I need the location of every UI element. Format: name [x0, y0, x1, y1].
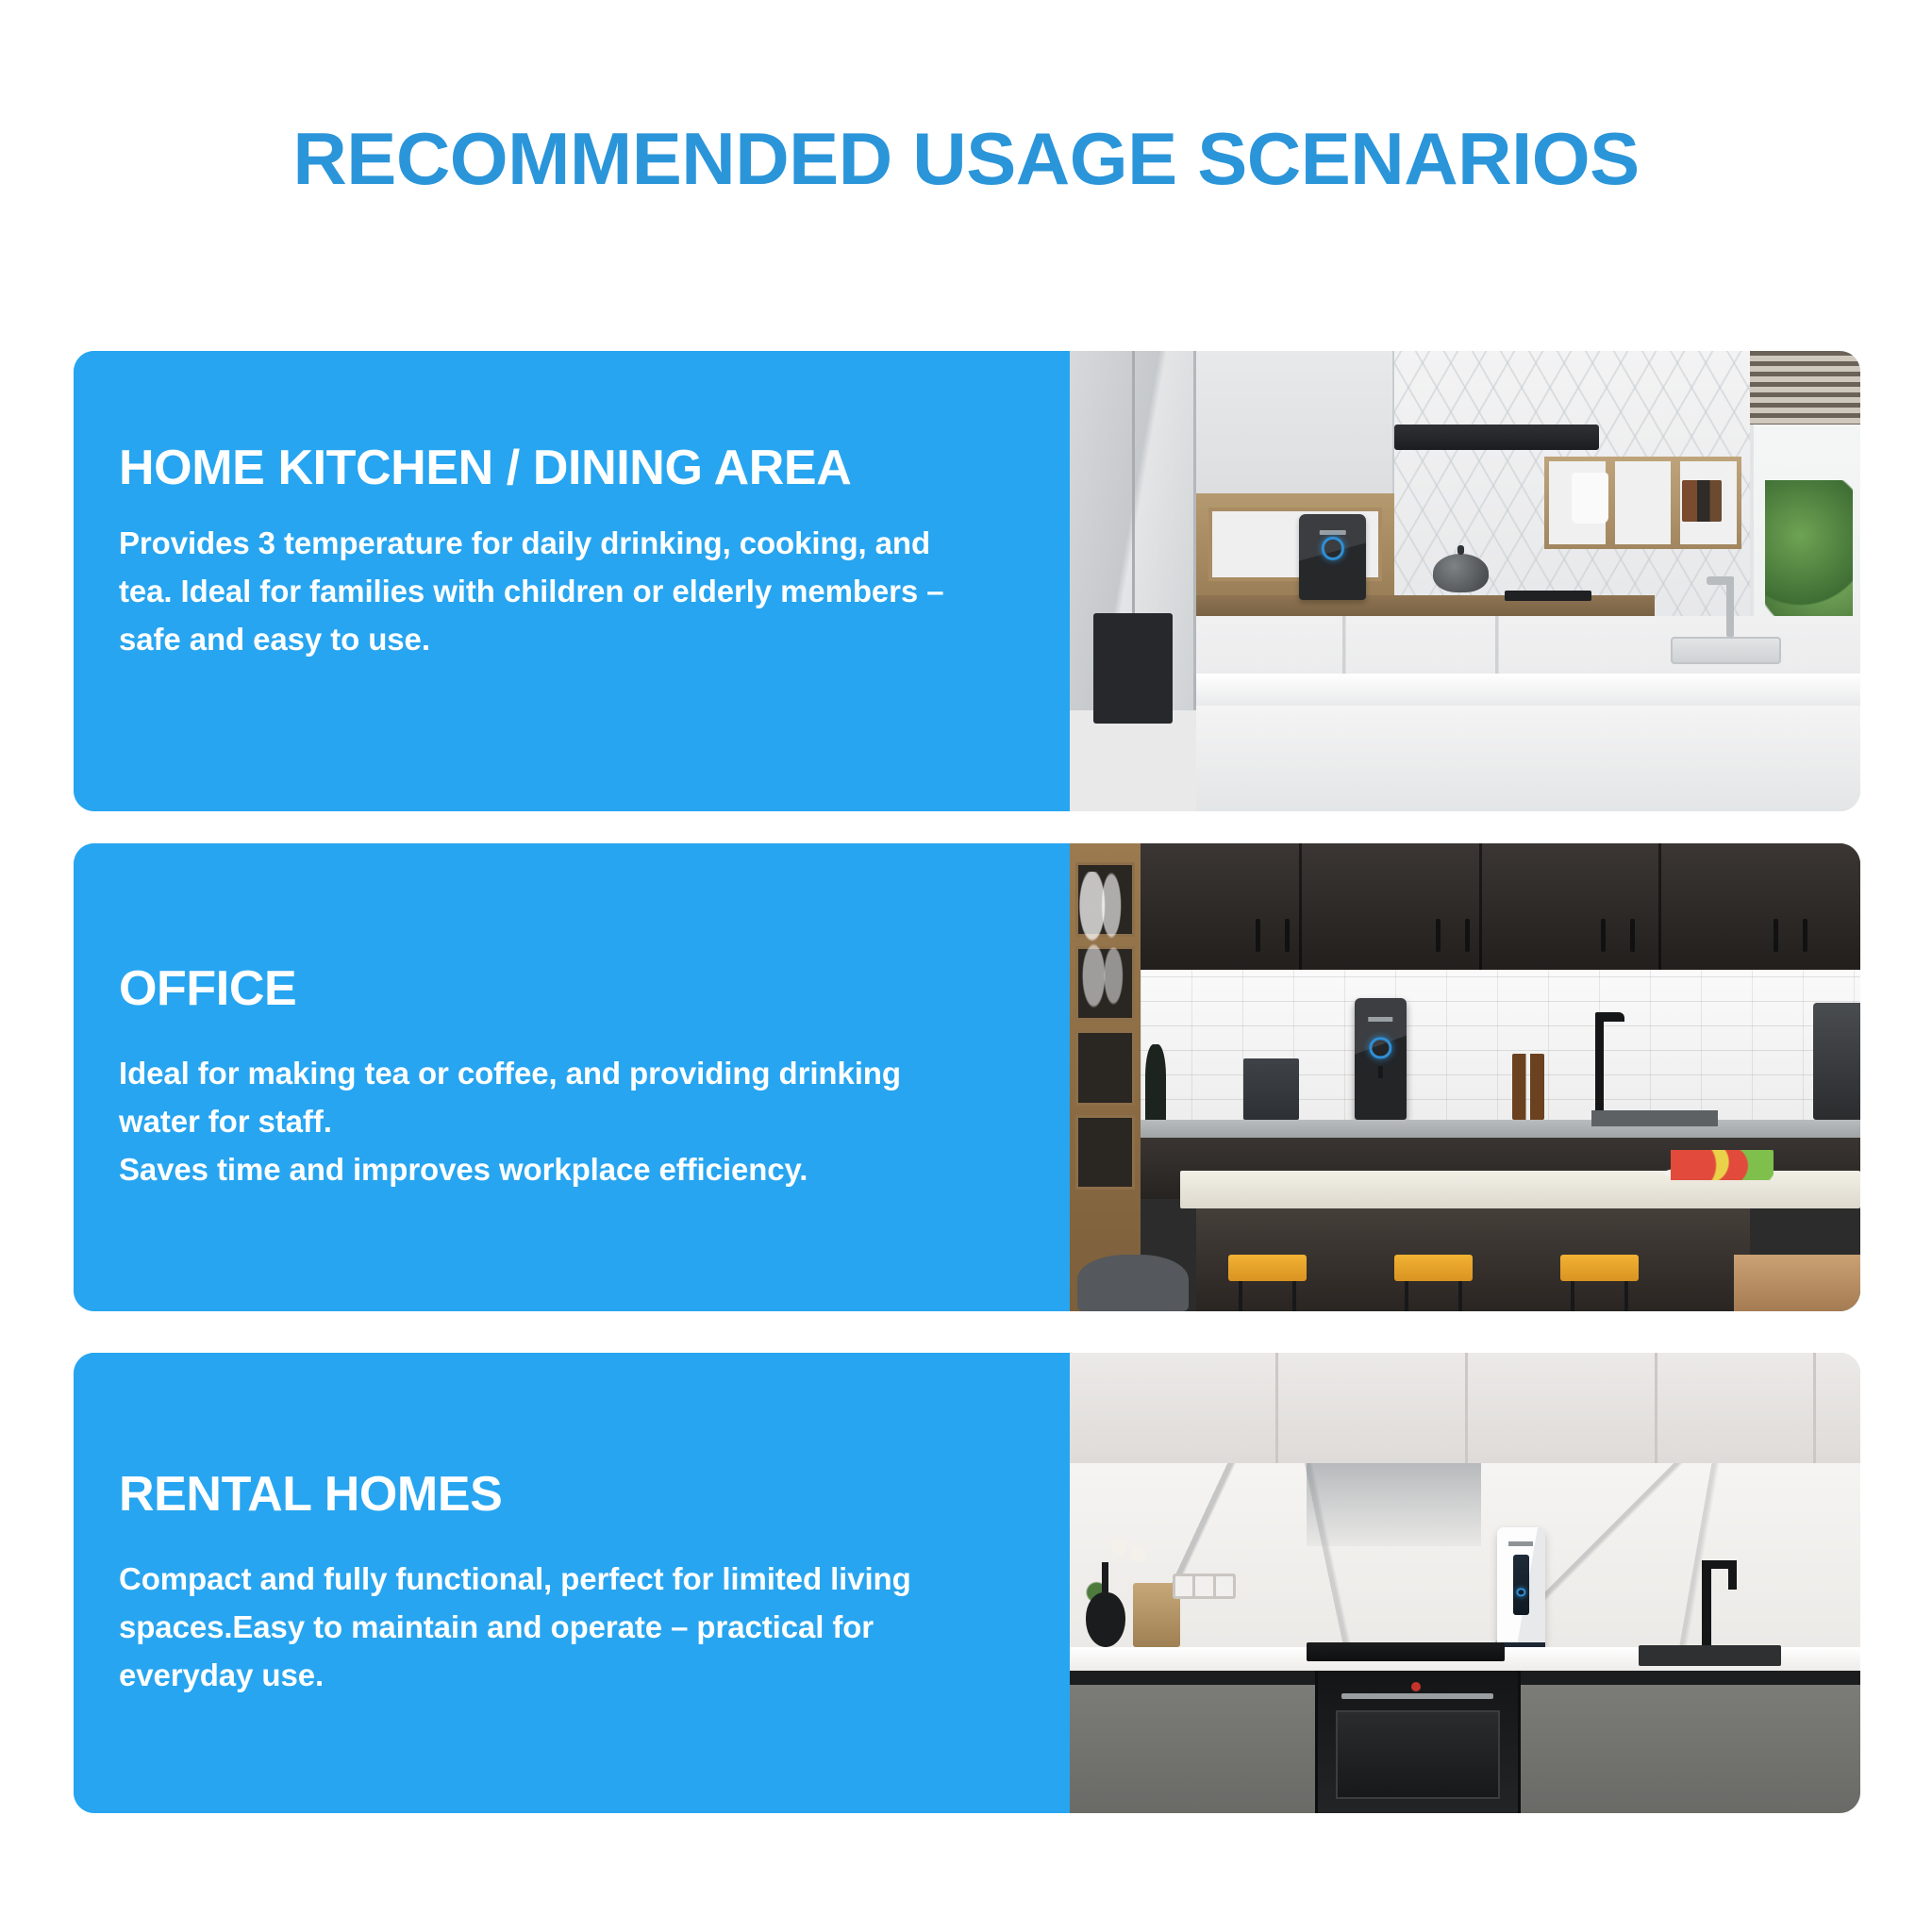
scenario-card-text: HOME KITCHEN / DINING AREA Provides 3 te… [74, 351, 1070, 811]
switch [1216, 1576, 1233, 1596]
cabinet-handle [1803, 919, 1807, 952]
wood-table [1734, 1255, 1860, 1311]
bar-stool [1394, 1255, 1474, 1311]
shelf-bay [1615, 461, 1672, 544]
black-vase [1086, 1592, 1125, 1648]
cabinet-handle [1256, 919, 1260, 952]
dispenser-display-ring [1370, 1037, 1391, 1058]
fruit [1671, 1150, 1774, 1180]
kitchen-faucet [1726, 576, 1734, 636]
wall-switch-plate [1173, 1574, 1236, 1599]
kitchen-scene-illustration [1070, 351, 1860, 811]
cabinet-handle [1630, 919, 1635, 952]
upper-cabinets-light [1070, 1353, 1860, 1463]
page-title: RECOMMENDED USAGE SCENARIOS [0, 121, 1932, 196]
scenario-body: Provides 3 temperature for daily drinkin… [119, 519, 949, 663]
shelf-bay [1075, 1030, 1135, 1105]
dispenser-display-ring [1322, 537, 1344, 559]
wine-bottle [1145, 1044, 1166, 1124]
cabinet-handle [1465, 919, 1470, 952]
cabinet-handle [1601, 919, 1606, 952]
bar-stool [1228, 1255, 1307, 1311]
outdoor-foliage [1765, 480, 1852, 618]
stool-leg [1239, 1281, 1242, 1311]
oven-handle [1341, 1693, 1493, 1699]
office-kitchen-illustration [1070, 843, 1860, 1311]
kitchen-faucet [1595, 1012, 1604, 1120]
dispenser-control-panel [1513, 1555, 1529, 1614]
scenario-image-rental-homes [1070, 1353, 1860, 1813]
scenario-card-text: OFFICE Ideal for making tea or coffee, a… [74, 843, 1070, 1311]
kitchen-sink [1639, 1645, 1781, 1666]
dining-chair [1077, 1255, 1188, 1311]
cabinet-seam [1813, 1353, 1816, 1463]
upper-cabinets-dark [1141, 843, 1860, 970]
scenario-card-text: RENTAL HOMES Compact and fully functiona… [74, 1353, 1070, 1813]
range-hood [1394, 425, 1600, 450]
rental-kitchen-illustration [1070, 1353, 1860, 1813]
amber-bottles [1512, 1054, 1544, 1119]
kitchen-sink [1671, 637, 1781, 664]
mug [1572, 473, 1608, 524]
scenario-card-rental-homes: RENTAL HOMES Compact and fully functiona… [74, 1353, 1860, 1813]
scenario-card-home-kitchen: HOME KITCHEN / DINING AREA Provides 3 te… [74, 351, 1860, 811]
cabinet-handle [1436, 919, 1441, 952]
stool-leg [1292, 1281, 1296, 1311]
cabinet-seam [1465, 1353, 1468, 1463]
cabinet-seam [1299, 843, 1302, 970]
cabinet-seam [1275, 1353, 1278, 1463]
water-dispenser-dark [1355, 998, 1407, 1120]
island-countertop [1196, 674, 1860, 706]
cabinet-seam [1479, 843, 1482, 970]
storage-jars [1682, 480, 1722, 522]
stool-leg [1571, 1281, 1574, 1311]
dispenser-spout [1378, 1066, 1382, 1078]
switch [1175, 1576, 1192, 1596]
stool-seat [1228, 1255, 1307, 1280]
scenario-card-office: OFFICE Ideal for making tea or coffee, a… [74, 843, 1860, 1311]
oven-indicator [1411, 1682, 1421, 1691]
stool-leg [1624, 1281, 1628, 1311]
dispenser-logo [1319, 530, 1345, 535]
stool-seat [1394, 1255, 1474, 1280]
built-in-oven [1315, 1671, 1521, 1813]
dispenser-logo [1509, 1541, 1534, 1546]
scenario-body: Compact and fully functional, perfect fo… [119, 1555, 949, 1699]
scenario-image-office [1070, 843, 1860, 1311]
usage-scenarios-page: RECOMMENDED USAGE SCENARIOS HOME KITCHEN… [0, 0, 1932, 1932]
window-blinds [1750, 351, 1860, 425]
cabinet-seam [1655, 1353, 1657, 1463]
kitchen-faucet [1702, 1560, 1710, 1648]
scenario-heading: HOME KITCHEN / DINING AREA [119, 441, 1038, 494]
kitchen-sink [1591, 1110, 1718, 1126]
stool-leg [1458, 1281, 1462, 1311]
water-dispenser-dark [1299, 514, 1366, 599]
scenario-heading: RENTAL HOMES [119, 1468, 1038, 1521]
bar-stool [1560, 1255, 1640, 1311]
dispenser-display-ring [1517, 1588, 1525, 1596]
cabinet-handle [1774, 919, 1778, 952]
induction-cooktop [1307, 1642, 1505, 1661]
cabinet-seam [1658, 843, 1661, 970]
shelf-bay [1075, 1115, 1135, 1190]
back-counter [1141, 1120, 1860, 1139]
stovetop [1505, 591, 1591, 602]
glass-hood [1307, 1463, 1480, 1546]
island-cabinet [1196, 706, 1860, 811]
knife-block [1243, 1058, 1299, 1119]
stool-leg [1405, 1281, 1408, 1311]
oven-door-glass [1336, 1710, 1500, 1799]
dispenser-logo [1369, 1017, 1392, 1022]
glassware [1079, 872, 1130, 1012]
cooking-pot [1433, 554, 1489, 592]
refrigerator-panel [1093, 613, 1173, 724]
scenario-heading: OFFICE [119, 962, 1038, 1015]
cabinet-handle [1285, 919, 1290, 952]
switch [1195, 1576, 1212, 1596]
upper-cabinet [1196, 351, 1394, 493]
scenario-body: Ideal for making tea or coffee, and prov… [119, 1049, 949, 1193]
water-dispenser-white [1497, 1527, 1546, 1652]
coffee-machine [1813, 1003, 1860, 1120]
stool-seat [1560, 1255, 1640, 1280]
scenario-image-home-kitchen [1070, 351, 1860, 811]
